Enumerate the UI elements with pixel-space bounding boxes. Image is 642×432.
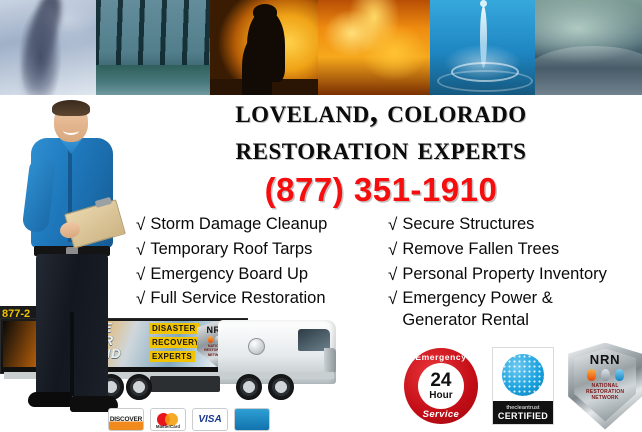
check-icon: √ [388,288,397,309]
list-item: √ Emergency Board Up [136,264,388,286]
emergency-24hour-badge: Emergency 24 Hour Service [404,348,478,424]
service-label: Emergency Board Up [150,264,308,286]
service-label: Personal Property Inventory [402,264,607,286]
water-drop-icon [615,369,624,381]
check-icon: √ [136,214,145,235]
list-item: √ Storm Damage Cleanup [136,214,388,236]
truck-undertray [150,376,220,392]
page-title-line1: Loveland, Colorado [120,96,642,130]
mastercard-label: MasterCard [151,424,185,429]
emergency-badge-bottom-text: Service [404,409,478,420]
water-column [480,6,487,68]
service-label: Temporary Roof Tarps [150,239,312,261]
cleantrust-status: CERTIFIED [498,411,548,421]
list-item: √ Emergency Power & Generator Rental [388,288,642,332]
nrn-subtitle-line1: NATIONAL [586,383,624,389]
emergency-badge-top-text: Emergency [404,352,478,362]
services-column-left: √ Storm Damage Cleanup √ Temporary Roof … [136,214,388,335]
check-icon: √ [388,264,397,285]
services-lists: √ Storm Damage Cleanup √ Temporary Roof … [136,214,642,335]
emergency-badge-center: 24 Hour [418,363,464,409]
service-label: Full Service Restoration [150,288,325,310]
amex-icon [234,408,270,431]
trust-badges: Emergency 24 Hour Service thecleantrust … [404,344,642,428]
list-item: √ Secure Structures [388,214,642,236]
contractor-smile [63,126,79,135]
tornado-icon [601,369,610,381]
trailer-tag-disaster: DISASTER [149,323,199,334]
truck-wheel [268,374,294,400]
emergency-badge-unit: Hour [429,391,452,401]
cab-grill [324,348,336,374]
contractor-photo [14,100,130,420]
firefighter-head [253,4,277,20]
check-icon: √ [136,288,145,309]
hero-image-strip [0,0,642,95]
check-icon: √ [388,239,397,260]
discover-card-icon: DISCOVER [108,408,144,431]
storm-photo [96,0,210,95]
nrn-shield-badge: NRN NATIONAL RESTORATION NETWORK [568,343,642,430]
page-title-line2: Restoration Experts [120,133,642,167]
water-ripple-outer [437,70,533,92]
cleantrust-label-bar: thecleantrust CERTIFIED [493,401,553,424]
cleantrust-certified-badge: thecleantrust CERTIFIED [492,347,554,425]
fire-photo [318,0,430,95]
ocean-wave-photo [535,0,642,95]
nrn-subtitle: NATIONAL RESTORATION NETWORK [586,383,624,402]
nrn-subtitle-line3: NETWORK [586,395,624,401]
service-label: Storm Damage Cleanup [150,214,327,236]
water-drop-photo [430,0,535,95]
cab-emblem-icon [248,338,265,355]
trailer-tag-experts: EXPERTS [149,351,195,362]
service-label: Remove Fallen Trees [402,239,559,261]
list-item: √ Full Service Restoration [136,288,388,310]
check-icon: √ [136,264,145,285]
discover-label: DISCOVER [110,416,142,423]
check-icon: √ [388,214,397,235]
visa-icon: VISA [192,408,228,431]
globe-icon [502,354,544,396]
flyer-page: Loveland, Colorado Restoration Experts (… [0,0,642,432]
payment-methods: DISCOVER MasterCard VISA [108,408,270,431]
contractor-leg-split [70,312,74,396]
list-item: √ Remove Fallen Trees [388,239,642,261]
contractor-hair [52,100,90,116]
nrn-initials: NRN [590,352,621,367]
firefighter-photo [210,0,318,95]
nrn-hazard-icons [587,369,624,381]
mastercard-icon: MasterCard [150,408,186,431]
flame-icon [587,369,596,381]
truck-wheel [236,374,262,400]
check-icon: √ [136,239,145,260]
service-label: Secure Structures [402,214,534,236]
firefighter-ground [210,79,318,95]
headline-block: Loveland, Colorado Restoration Experts (… [120,96,642,209]
flame-icon [208,336,213,343]
phone-number[interactable]: (877) 351-1910 [120,171,642,209]
services-column-right: √ Secure Structures √ Remove Fallen Tree… [388,214,642,335]
list-item: √ Temporary Roof Tarps [136,239,388,261]
tornado-photo [0,0,96,95]
emergency-badge-number: 24 [430,371,451,390]
visa-label: VISA [198,414,221,425]
list-item: √ Personal Property Inventory [388,264,642,286]
contractor-shoe [28,392,72,407]
trailer-tag-recovery: RECOVERY [149,337,203,348]
service-label: Emergency Power & Generator Rental [402,288,552,332]
